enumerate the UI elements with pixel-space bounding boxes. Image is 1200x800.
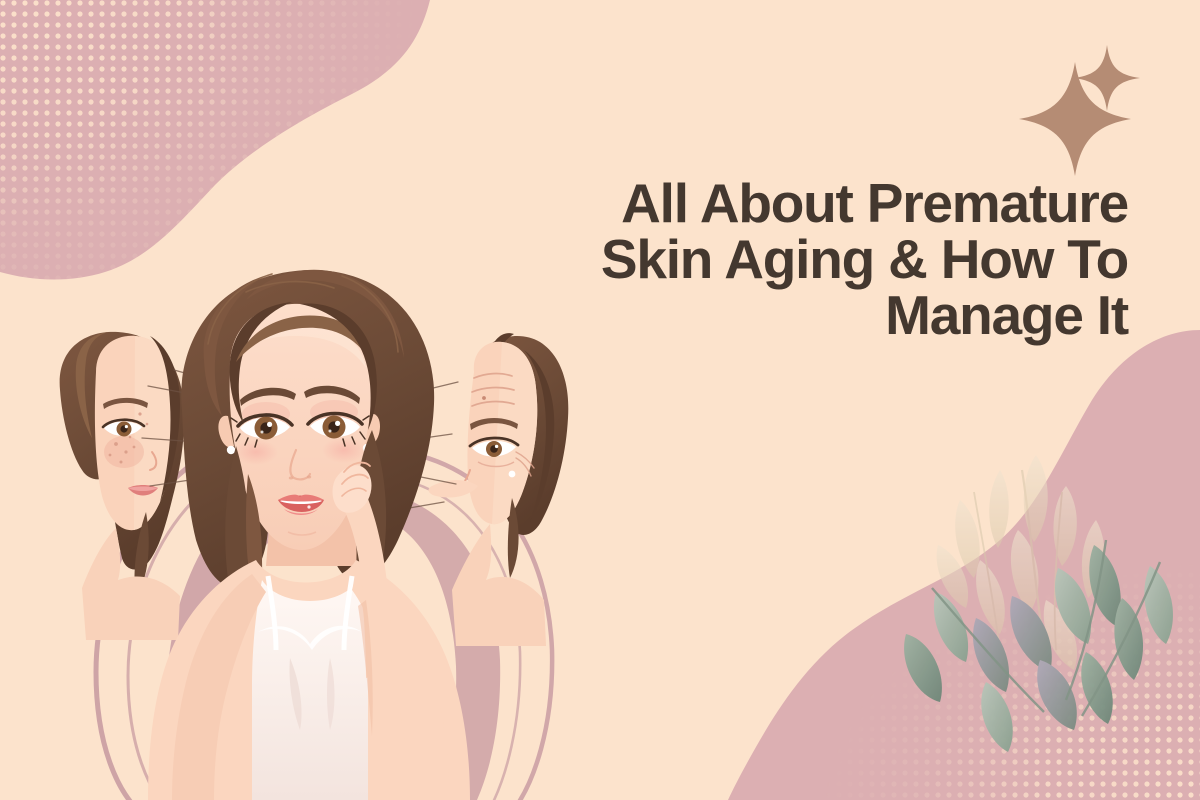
title-line-3: Manage It — [428, 287, 1128, 343]
left-profile-face-pigmentation — [60, 332, 184, 640]
title-line-1: All About Premature — [428, 175, 1128, 231]
title-line-2: Skin Aging & How To — [428, 231, 1128, 287]
woman-skincare-illustration — [0, 0, 1200, 800]
skincare-article-banner: All About Premature Skin Aging & How To … — [0, 0, 1200, 800]
page-title: All About Premature Skin Aging & How To … — [428, 175, 1128, 343]
